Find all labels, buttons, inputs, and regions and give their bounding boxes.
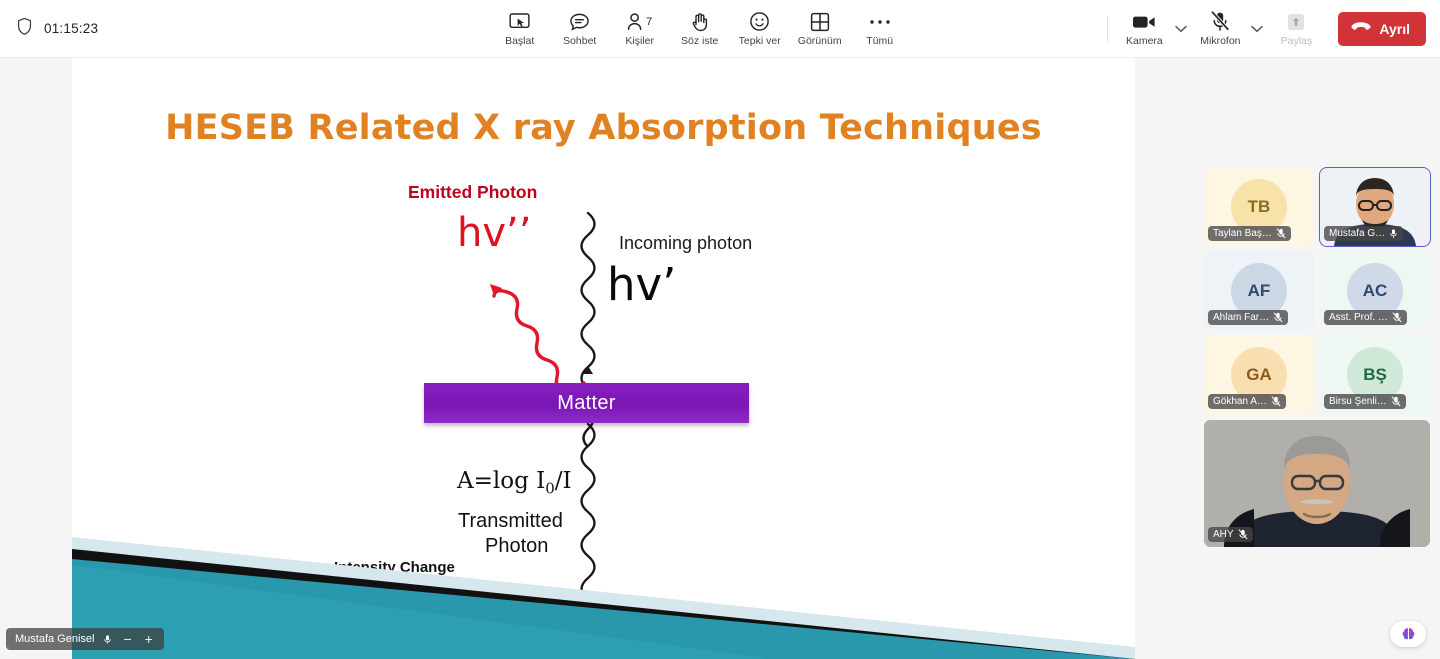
roster-row: TB Taylan Baş… [1204, 168, 1436, 246]
toolbar-label: Mikrofon [1200, 35, 1240, 47]
toolbar-divider [1107, 16, 1108, 42]
people-icon: 7 [627, 11, 652, 33]
camera-control-group: Kamera [1116, 5, 1192, 53]
slide-decoration-bands [72, 519, 1135, 659]
raise-hand-icon [690, 11, 710, 33]
participant-tile[interactable]: BŞ Birsu Şenli… [1320, 336, 1430, 414]
participant-name-chip: Birsu Şenli… [1324, 394, 1406, 409]
toolbar-label: Görünüm [798, 35, 842, 47]
zoom-in-button[interactable]: + [143, 632, 155, 646]
participant-name: Gökhan A… [1213, 396, 1267, 407]
toolbar-button-microphone[interactable]: Mikrofon [1192, 5, 1248, 53]
shared-content-slide[interactable]: HESEB Related X ray Absorption Technique… [72, 58, 1135, 659]
participant-name-chip: Mustafa G… [1324, 226, 1403, 241]
participant-roster: TB Taylan Baş… [1204, 168, 1436, 547]
meeting-timer: 01:15:23 [44, 21, 98, 36]
mic-muted-icon [1273, 312, 1283, 323]
mic-muted-icon [1271, 396, 1281, 407]
mic-muted-icon [1276, 228, 1286, 239]
share-screen-icon [509, 11, 530, 33]
toolbar-button-reactions[interactable]: Tepki ver [732, 5, 788, 53]
toolbar-label: Kamera [1126, 35, 1163, 47]
spotlight-name: AHY [1213, 529, 1234, 540]
toolbar-label: Tümü [866, 35, 893, 47]
matter-label: Matter [557, 392, 615, 415]
spotlight-name-chip: AHY [1208, 527, 1253, 542]
leave-button-label: Ayrıl [1379, 21, 1410, 37]
toolbar-button-share[interactable]: Paylaş [1268, 5, 1324, 53]
share-up-icon [1286, 11, 1306, 33]
copilot-button[interactable] [1390, 621, 1426, 647]
toolbar-button-view[interactable]: Görünüm [792, 5, 848, 53]
copilot-brain-icon [1400, 626, 1417, 643]
toolbar-label: Söz iste [681, 35, 718, 47]
emitted-photon-wave [494, 291, 584, 395]
self-name: Mustafa Genisel [15, 633, 94, 645]
view-grid-icon [810, 11, 830, 33]
matter-bar: Matter [424, 383, 749, 423]
participant-name-chip: Taylan Baş… [1208, 226, 1291, 241]
meeting-toolbar: 01:15:23 Başlat So [0, 0, 1440, 58]
toolbar-right-group: Kamera [1099, 5, 1440, 53]
zoom-out-button[interactable]: − [121, 632, 133, 646]
participant-name: Mustafa G… [1329, 228, 1385, 239]
mic-muted-icon [1392, 312, 1402, 323]
incoming-photon-wave [582, 213, 595, 411]
toolbar-button-raise-hand[interactable]: Söz iste [672, 5, 728, 53]
participant-name-chip: Asst. Prof. … [1324, 310, 1407, 325]
toolbar-label: Kişiler [625, 35, 654, 47]
label-emitted-photon: Emitted Photon [408, 182, 537, 203]
participant-tile[interactable]: AF Ahlam Far… [1204, 252, 1314, 330]
participant-name-chip: Gökhan A… [1208, 394, 1286, 409]
emitted-photon-arrowhead [490, 284, 502, 296]
mic-muted-icon [1238, 529, 1248, 540]
shield-icon [16, 17, 33, 41]
self-name-zoom-chip: Mustafa Genisel − + [6, 628, 164, 650]
participant-name: Taylan Baş… [1213, 228, 1272, 239]
label-absorbance-formula: A=log I0/I [457, 468, 572, 498]
participant-name: Ahlam Far… [1213, 312, 1269, 323]
more-ellipsis-icon [869, 11, 891, 33]
toolbar-label: Paylaş [1281, 35, 1313, 47]
mic-icon [103, 634, 112, 645]
microphone-chevron-down-icon[interactable] [1248, 7, 1266, 51]
toolbar-button-more[interactable]: Tümü [852, 5, 908, 53]
toolbar-label: Tepki ver [739, 35, 781, 47]
slide-title: HESEB Related X ray Absorption Technique… [72, 108, 1135, 148]
participant-tile[interactable]: AC Asst. Prof. … [1320, 252, 1430, 330]
incoming-arrowhead [583, 366, 593, 374]
label-incoming-photon: Incoming photon [619, 233, 752, 254]
toolbar-button-people[interactable]: 7 Kişiler [612, 5, 668, 53]
toolbar-button-share-screen[interactable]: Başlat [492, 5, 548, 53]
spotlight-participant-tile[interactable]: AHY [1204, 420, 1430, 547]
hang-up-icon [1351, 21, 1371, 37]
leave-meeting-button[interactable]: Ayrıl [1338, 12, 1426, 46]
teams-meeting-window: 01:15:23 Başlat So [0, 0, 1440, 659]
reactions-icon [749, 11, 770, 33]
participant-name: Asst. Prof. … [1329, 312, 1388, 323]
participant-name-chip: Ahlam Far… [1208, 310, 1288, 325]
camera-on-icon [1132, 11, 1156, 33]
toolbar-label: Başlat [505, 35, 534, 47]
toolbar-button-camera[interactable]: Kamera [1116, 5, 1172, 53]
participant-tile-active-speaker[interactable]: Mustafa G… [1320, 168, 1430, 246]
roster-row: AF Ahlam Far… AC Asst. Prof. … [1204, 252, 1436, 330]
toolbar-button-chat[interactable]: Sohbet [552, 5, 608, 53]
microphone-control-group: Mikrofon [1192, 5, 1268, 53]
label-hv-double-prime: hv’’ [457, 210, 531, 256]
mic-muted-icon [1210, 11, 1230, 33]
meeting-stage: HESEB Related X ray Absorption Technique… [0, 58, 1440, 659]
toolbar-center-group: Başlat Sohbet 7 [300, 5, 1099, 53]
people-count-badge: 7 [646, 16, 652, 28]
participant-tile[interactable]: GA Gökhan A… [1204, 336, 1314, 414]
toolbar-label: Sohbet [563, 35, 596, 47]
participant-tile[interactable]: TB Taylan Baş… [1204, 168, 1314, 246]
mic-muted-icon [1391, 396, 1401, 407]
camera-chevron-down-icon[interactable] [1172, 7, 1190, 51]
mic-unmuted-icon [1389, 228, 1398, 239]
label-hv-prime: hv’ [607, 258, 676, 311]
toolbar-left-group: 01:15:23 [0, 17, 300, 41]
participant-name: Birsu Şenli… [1329, 396, 1387, 407]
chat-icon [569, 11, 590, 33]
roster-row: GA Gökhan A… BŞ Birsu Şenli… [1204, 336, 1436, 414]
